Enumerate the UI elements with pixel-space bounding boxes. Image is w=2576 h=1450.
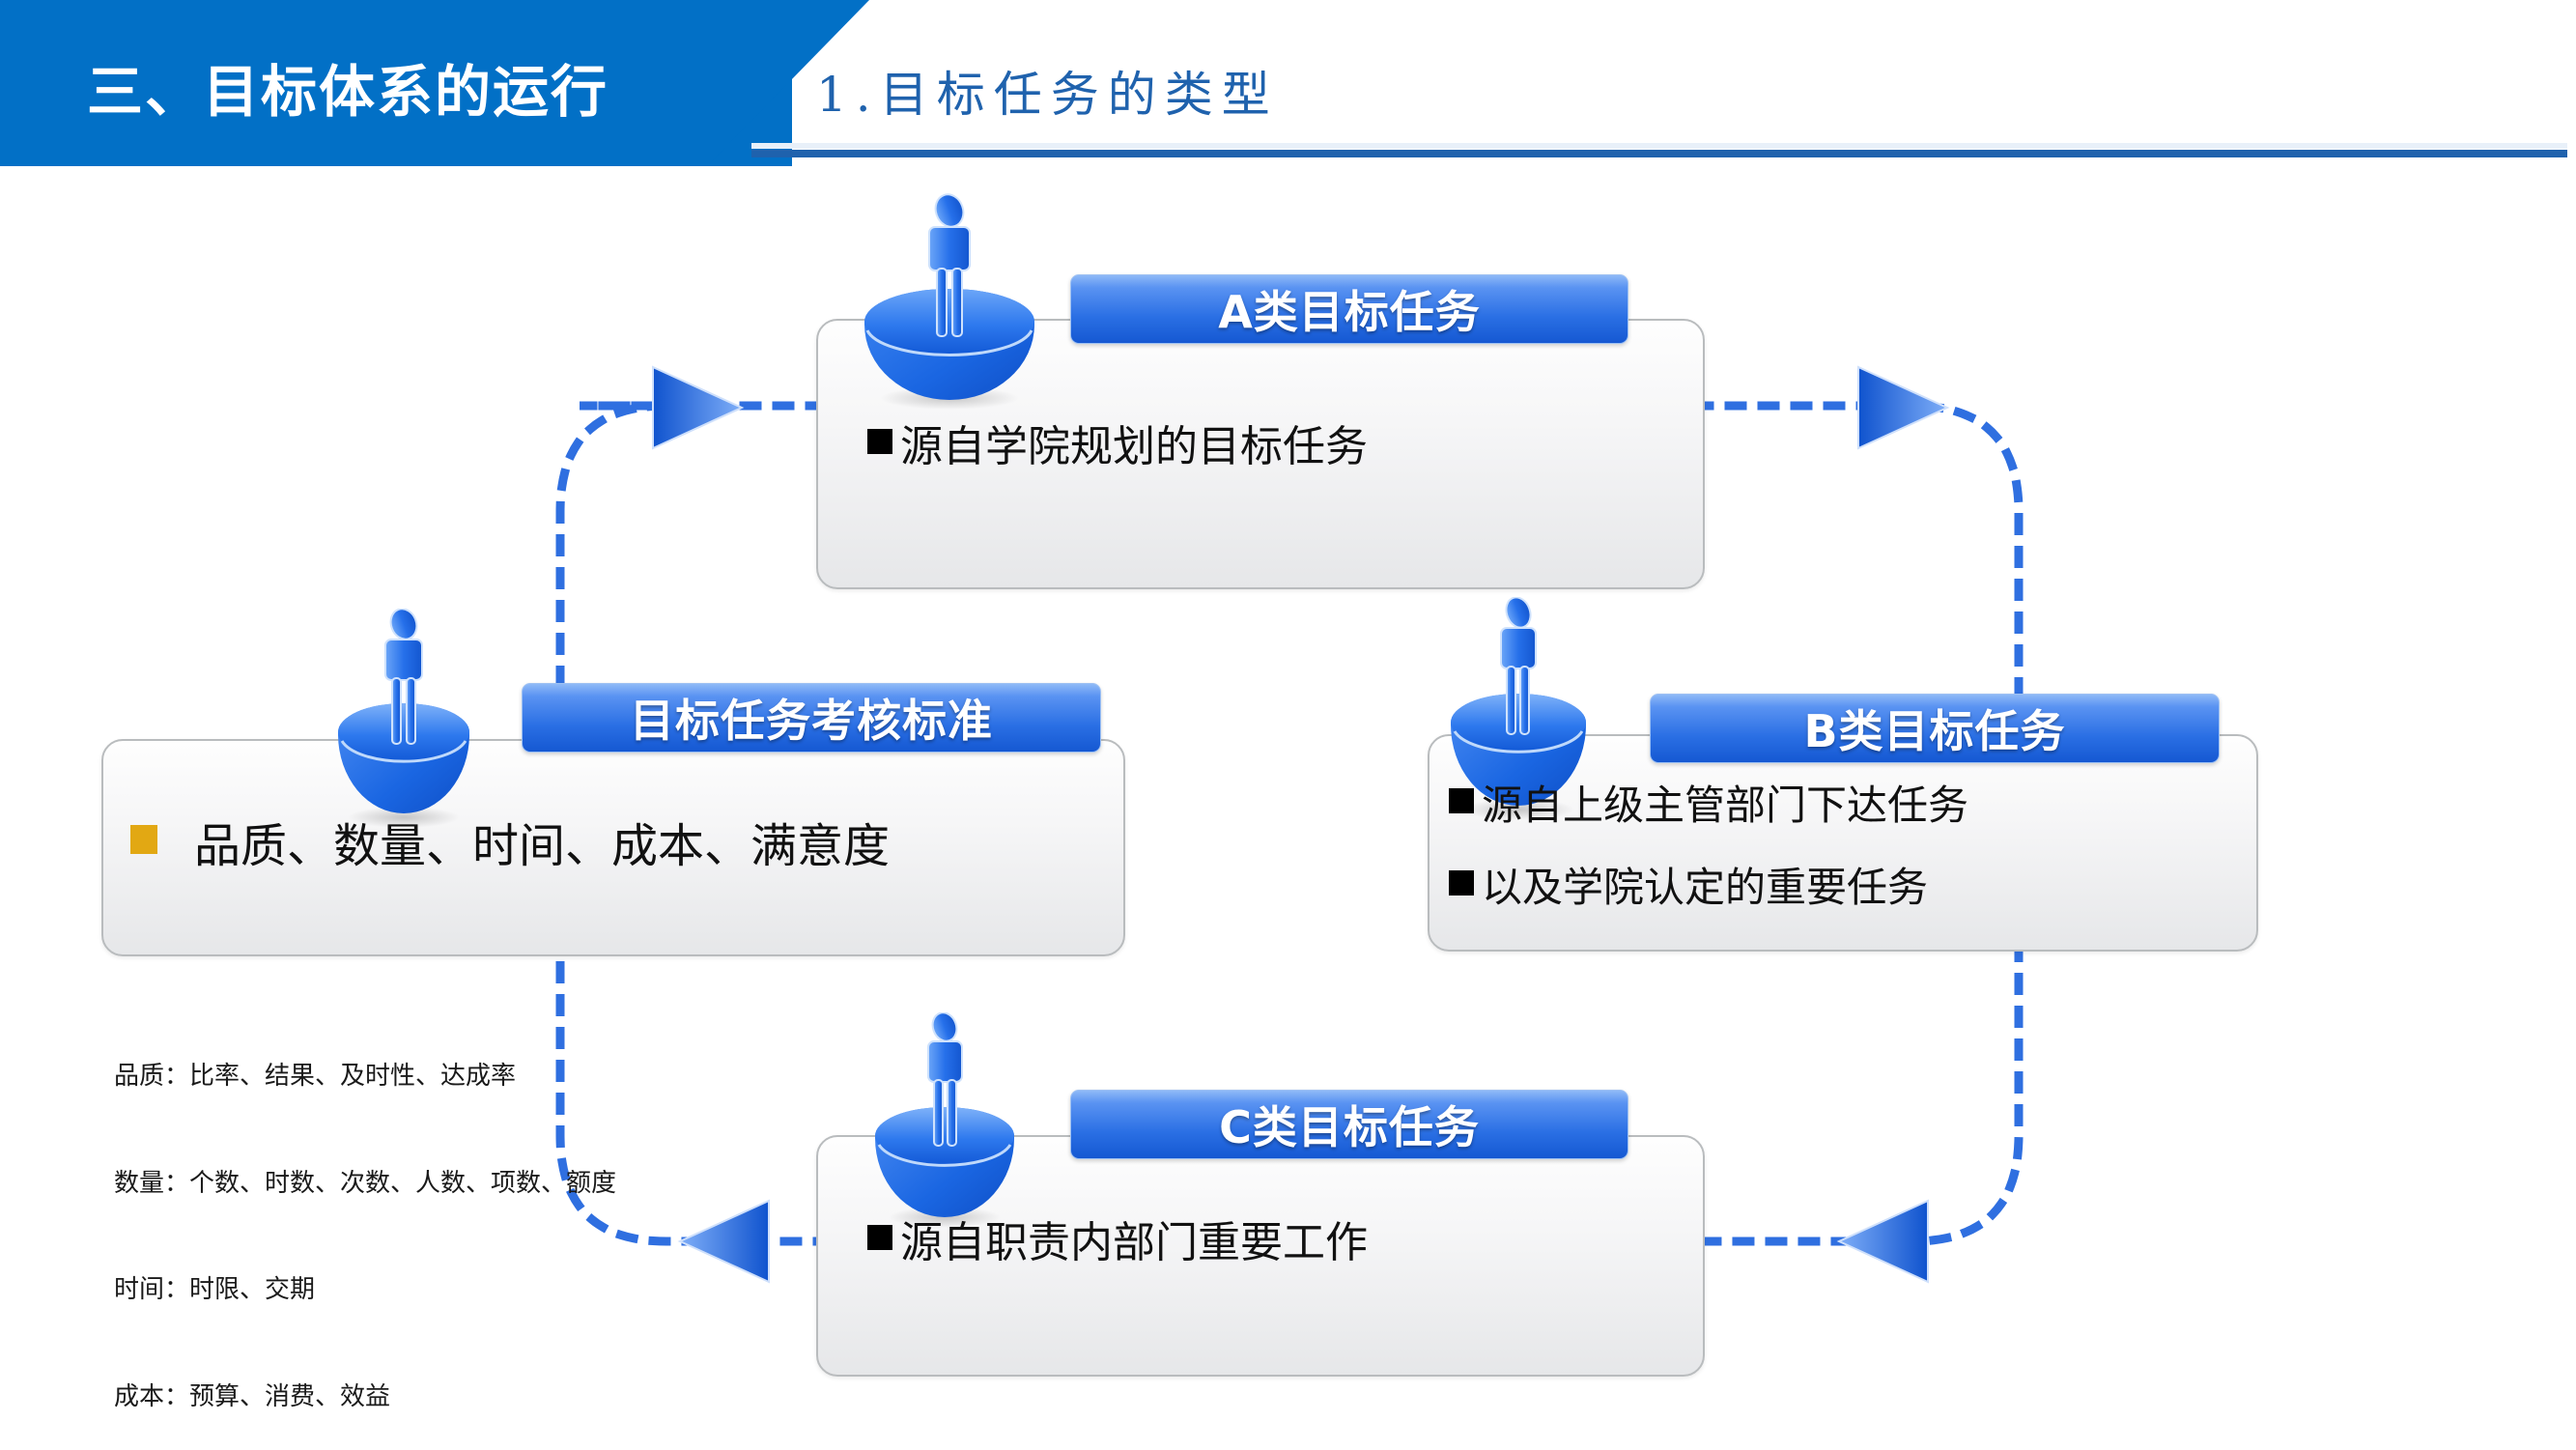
list-item: 源自职责内部门重要工作 <box>867 1209 1717 1277</box>
panel-a-type-title: A类目标任务 <box>1218 277 1481 341</box>
panel-a-type-title-bar[interactable]: A类目标任务 <box>1070 274 1628 344</box>
square-bullet-icon <box>1449 788 1474 813</box>
square-bullet-icon <box>1449 870 1474 896</box>
square-bullet-icon <box>867 429 892 454</box>
panel-b-type-title-bar[interactable]: B类目标任务 <box>1650 694 2220 763</box>
list-item: 源自上级主管部门下达任务 <box>1449 773 2260 838</box>
panel-standard-body: 品质、数量、时间、成本、满意度 <box>130 810 1096 884</box>
footnote-line: 品质：比率、结果、及时性、达成率 <box>114 1059 616 1095</box>
footnote-line: 成本：预算、消费、效益 <box>114 1379 616 1415</box>
footnote-line: 数量：个数、时数、次数、人数、项数、额度 <box>114 1166 616 1202</box>
bullet-text: 以及学院认定的重要任务 <box>1482 855 1928 920</box>
list-item: 源自学院规划的目标任务 <box>867 413 1717 481</box>
arrow-left-icon-bottom <box>676 1193 765 1290</box>
panel-standard-title: 目标任务考核标准 <box>630 686 993 750</box>
list-item: 品质、数量、时间、成本、满意度 <box>130 810 1096 884</box>
arrow-right-icon-right <box>1854 359 1943 456</box>
bullet-text: 源自学院规划的目标任务 <box>900 413 1368 481</box>
bullet-text: 源自职责内部门重要工作 <box>900 1209 1368 1277</box>
panel-standard-title-bar[interactable]: 目标任务考核标准 <box>522 683 1101 753</box>
person-on-bowl-icon-c <box>848 1012 1041 1230</box>
footnote-block: 品质：比率、结果、及时性、达成率 数量：个数、时数、次数、人数、项数、额度 时间… <box>114 987 616 1450</box>
list-item: 以及学院认定的重要任务 <box>1449 855 2260 920</box>
bullet-text: 品质、数量、时间、成本、满意度 <box>194 810 890 884</box>
arrow-left-icon-bottom-right <box>1835 1193 1924 1290</box>
panel-c-type-body: 源自职责内部门重要工作 <box>867 1209 1717 1277</box>
panel-c-type-title-bar[interactable]: C类目标任务 <box>1070 1090 1628 1159</box>
panel-c-type-title: C类目标任务 <box>1219 1093 1480 1156</box>
footnote-line: 时间：时限、交期 <box>114 1272 616 1308</box>
bullet-text: 源自上级主管部门下达任务 <box>1482 773 1968 838</box>
panel-a-type-body: 源自学院规划的目标任务 <box>867 413 1717 481</box>
panel-b-type-title: B类目标任务 <box>1803 697 2065 760</box>
panel-b-type-body: 源自上级主管部门下达任务 以及学院认定的重要任务 <box>1449 773 2260 920</box>
arrow-right-icon-top <box>649 359 738 456</box>
slide-canvas: 三、目标体系的运行 1.目标任务的类型 <box>0 0 2576 1450</box>
person-on-bowl-icon-standard <box>307 609 500 831</box>
square-bullet-icon <box>867 1225 892 1250</box>
person-on-bowl-icon-a <box>848 193 1051 415</box>
square-bullet-icon <box>130 825 157 854</box>
